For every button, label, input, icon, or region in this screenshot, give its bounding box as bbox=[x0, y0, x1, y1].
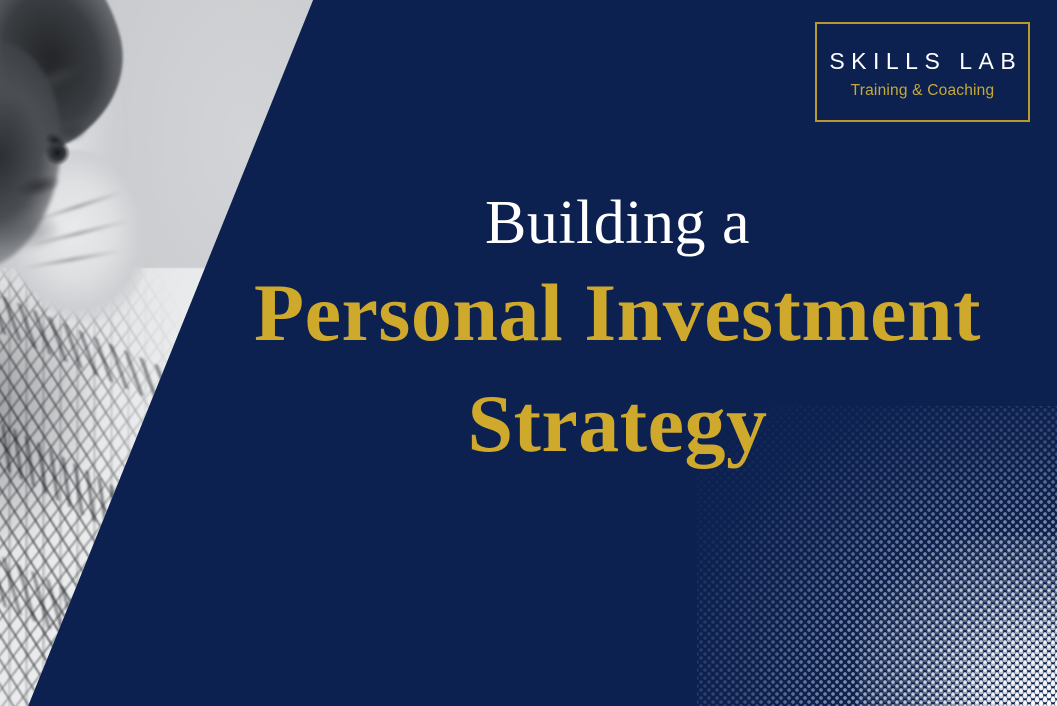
logo-tagline: Training & Coaching bbox=[815, 82, 1030, 100]
logo-frame-top bbox=[815, 22, 1030, 24]
headline-main-line-1: Personal Investment bbox=[210, 261, 1025, 366]
halftone-dots-dense-decoration bbox=[857, 536, 1057, 706]
slide-headline: Building a Personal Investment Strategy bbox=[210, 192, 1025, 477]
logo-frame-bottom bbox=[815, 120, 1030, 122]
logo-name: SKILLS LAB bbox=[815, 48, 1030, 75]
headline-eyebrow: Building a bbox=[210, 192, 1025, 255]
skills-lab-logo: SKILLS LAB Training & Coaching bbox=[815, 22, 1030, 122]
headline-main-line-2: Strategy bbox=[210, 372, 1025, 477]
presentation-slide: SKILLS LAB Training & Coaching Building … bbox=[0, 0, 1057, 706]
